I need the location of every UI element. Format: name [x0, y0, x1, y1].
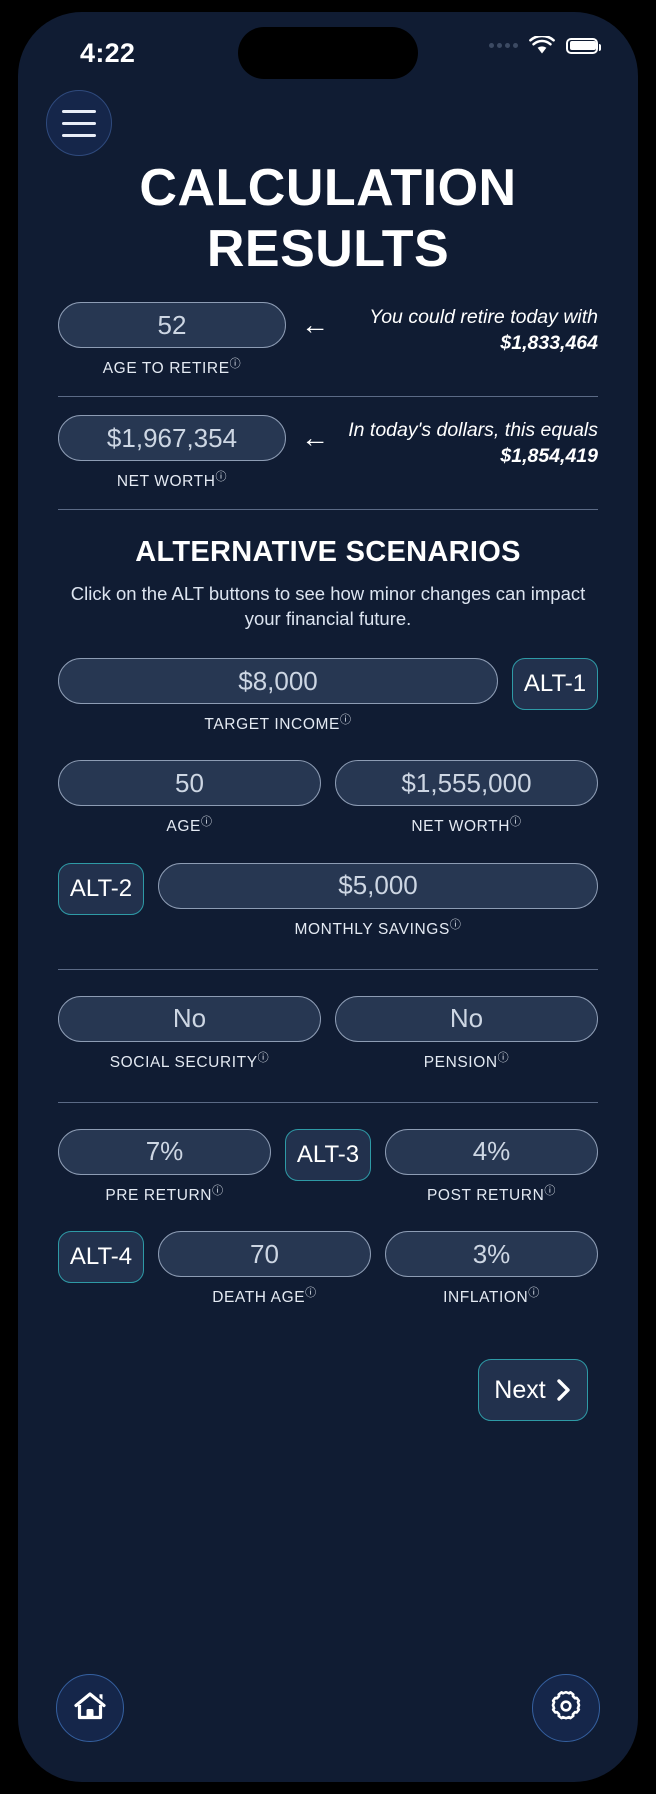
- alt-field-value[interactable]: 7%: [58, 1129, 271, 1175]
- divider: [58, 1102, 598, 1103]
- alt-field-label: NET WORTHⓘ: [335, 813, 598, 836]
- alt-field-label: DEATH AGEⓘ: [158, 1284, 371, 1307]
- home-icon: [73, 1690, 107, 1727]
- alt-row: 7%PRE RETURNⓘALT-34%POST RETURNⓘ: [58, 1129, 598, 1205]
- alt-button-alt-1[interactable]: ALT-1: [512, 658, 598, 710]
- dynamic-island: [238, 27, 418, 79]
- alt-field-caption-text: AGE: [166, 819, 201, 836]
- settings-button[interactable]: [532, 1674, 600, 1742]
- next-button-row: Next: [58, 1359, 598, 1421]
- next-button[interactable]: Next: [478, 1359, 588, 1421]
- info-icon[interactable]: ⓘ: [340, 714, 352, 726]
- arrow-left-icon: ←: [286, 415, 344, 461]
- alt-button-alt-2[interactable]: ALT-2: [58, 863, 144, 915]
- alt-field-value[interactable]: 70: [158, 1231, 371, 1277]
- alternative-scenarios-rows: $8,000TARGET INCOMEⓘALT-150AGEⓘ$1,555,00…: [58, 658, 598, 1307]
- info-icon[interactable]: ⓘ: [258, 1052, 270, 1064]
- alt-field-value[interactable]: No: [335, 996, 598, 1042]
- net-worth-value[interactable]: $1,967,354: [58, 415, 286, 461]
- status-indicators: [489, 36, 598, 55]
- result-note-networth: In today's dollars, this equals $1,854,4…: [344, 415, 598, 470]
- alt-row: ALT-470DEATH AGEⓘ3%INFLATIONⓘ: [58, 1231, 598, 1307]
- alt-field-value[interactable]: 4%: [385, 1129, 598, 1175]
- alt-field: $5,000MONTHLY SAVINGSⓘ: [158, 863, 598, 939]
- alt-row: $8,000TARGET INCOMEⓘALT-1: [58, 658, 598, 734]
- main-content: 52 AGE TO RETIREⓘ ← You could retire tod…: [18, 302, 638, 1421]
- signal-dots-icon: [489, 43, 518, 48]
- alt-field-value[interactable]: $8,000: [58, 658, 498, 704]
- alt-field: 70DEATH AGEⓘ: [158, 1231, 371, 1307]
- alt-field: 3%INFLATIONⓘ: [385, 1231, 598, 1307]
- result-note-age-value: $1,833,464: [500, 332, 598, 354]
- next-button-label: Next: [494, 1376, 545, 1405]
- alt-field: 50AGEⓘ: [58, 760, 321, 836]
- age-to-retire-value[interactable]: 52: [58, 302, 286, 348]
- alt-field-label: MONTHLY SAVINGSⓘ: [158, 916, 598, 939]
- bottom-navigation: [18, 1674, 638, 1742]
- alt-field-caption-text: SOCIAL SECURITY: [110, 1054, 258, 1071]
- alt-row: ALT-2$5,000MONTHLY SAVINGSⓘ: [58, 863, 598, 939]
- alt-row: 50AGEⓘ$1,555,000NET WORTHⓘ: [58, 760, 598, 836]
- divider: [58, 396, 598, 397]
- alt-field-caption-text: POST RETURN: [427, 1187, 544, 1204]
- result-field-networth: $1,967,354 NET WORTHⓘ: [58, 415, 286, 491]
- alt-field: NoSOCIAL SECURITYⓘ: [58, 996, 321, 1072]
- alt-field-label: INFLATIONⓘ: [385, 1284, 598, 1307]
- result-note-age-prefix: You could retire today with: [369, 306, 598, 328]
- alt-field-label: PRE RETURNⓘ: [58, 1182, 271, 1205]
- alt-field-label: POST RETURNⓘ: [385, 1182, 598, 1205]
- gear-icon: [549, 1689, 583, 1728]
- alt-field-label: TARGET INCOMEⓘ: [58, 711, 498, 734]
- alt-field-caption-text: INFLATION: [443, 1289, 528, 1306]
- alt-button-alt-3[interactable]: ALT-3: [285, 1129, 371, 1181]
- alt-field-caption-text: PRE RETURN: [105, 1187, 212, 1204]
- home-button[interactable]: [56, 1674, 124, 1742]
- alt-field-value[interactable]: $5,000: [158, 863, 598, 909]
- alternative-scenarios-heading: ALTERNATIVE SCENARIOS: [58, 536, 598, 569]
- age-to-retire-label: AGE TO RETIREⓘ: [58, 355, 286, 378]
- alt-field: NoPENSIONⓘ: [335, 996, 598, 1072]
- alt-button-alt-4[interactable]: ALT-4: [58, 1231, 144, 1283]
- alt-field-label: AGEⓘ: [58, 813, 321, 836]
- info-icon[interactable]: ⓘ: [230, 358, 242, 370]
- info-icon[interactable]: ⓘ: [450, 919, 462, 931]
- info-icon[interactable]: ⓘ: [201, 816, 213, 828]
- alt-field: 4%POST RETURNⓘ: [385, 1129, 598, 1205]
- info-icon[interactable]: ⓘ: [498, 1052, 510, 1064]
- result-row-age: 52 AGE TO RETIREⓘ ← You could retire tod…: [58, 302, 598, 378]
- info-icon[interactable]: ⓘ: [212, 1185, 224, 1197]
- alt-field-caption-text: MONTHLY SAVINGS: [294, 921, 449, 938]
- result-note-age: You could retire today with $1,833,464: [344, 302, 598, 357]
- alt-field-label: PENSIONⓘ: [335, 1049, 598, 1072]
- result-row-networth: $1,967,354 NET WORTHⓘ ← In today's dolla…: [58, 415, 598, 491]
- info-icon[interactable]: ⓘ: [544, 1185, 556, 1197]
- alternative-scenarios-description: Click on the ALT buttons to see how mino…: [58, 582, 598, 632]
- age-to-retire-caption-text: AGE TO RETIRE: [103, 360, 230, 377]
- alt-field-caption-text: PENSION: [424, 1054, 498, 1071]
- result-note-networth-prefix: In today's dollars, this equals: [348, 419, 598, 441]
- net-worth-caption-text: NET WORTH: [117, 473, 216, 490]
- arrow-left-icon: ←: [286, 302, 344, 348]
- status-time: 4:22: [80, 38, 135, 69]
- alt-field-value[interactable]: 50: [58, 760, 321, 806]
- result-note-networth-value: $1,854,419: [500, 445, 598, 467]
- alt-field: $1,555,000NET WORTHⓘ: [335, 760, 598, 836]
- phone-frame: 4:22 CALCULATION RESULTS: [0, 0, 656, 1794]
- alt-field-value[interactable]: 3%: [385, 1231, 598, 1277]
- result-field-age: 52 AGE TO RETIREⓘ: [58, 302, 286, 378]
- chevron-right-icon: [556, 1378, 572, 1402]
- alt-field-value[interactable]: $1,555,000: [335, 760, 598, 806]
- battery-icon: [566, 38, 598, 54]
- info-icon[interactable]: ⓘ: [305, 1287, 317, 1299]
- wifi-icon: [529, 36, 555, 55]
- info-icon[interactable]: ⓘ: [216, 471, 228, 483]
- alt-field: $8,000TARGET INCOMEⓘ: [58, 658, 498, 734]
- alt-field-caption-text: NET WORTH: [411, 819, 510, 836]
- info-icon[interactable]: ⓘ: [510, 816, 522, 828]
- page-title: CALCULATION RESULTS: [18, 158, 638, 281]
- info-icon[interactable]: ⓘ: [528, 1287, 540, 1299]
- alt-field: 7%PRE RETURNⓘ: [58, 1129, 271, 1205]
- alt-field-value[interactable]: No: [58, 996, 321, 1042]
- alt-row: NoSOCIAL SECURITYⓘNoPENSIONⓘ: [58, 996, 598, 1072]
- divider: [58, 509, 598, 510]
- status-bar: 4:22: [18, 12, 638, 84]
- hamburger-menu-icon[interactable]: [46, 90, 112, 156]
- app-screen: 4:22 CALCULATION RESULTS: [18, 12, 638, 1782]
- divider: [58, 969, 598, 970]
- alt-field-caption-text: DEATH AGE: [212, 1289, 305, 1306]
- alt-field-caption-text: TARGET INCOME: [204, 716, 340, 733]
- net-worth-label: NET WORTHⓘ: [58, 468, 286, 491]
- alt-field-label: SOCIAL SECURITYⓘ: [58, 1049, 321, 1072]
